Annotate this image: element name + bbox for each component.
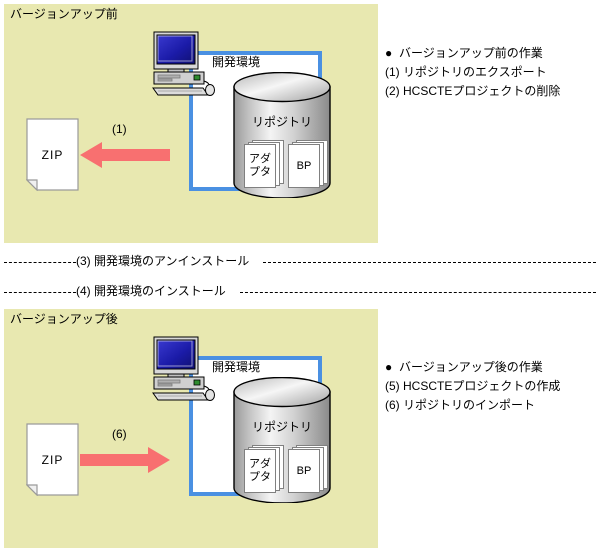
separator-step-4-label: (4) 開発環境のインストール [76,284,240,298]
separator-step-3: (3) 開発環境のアンインストール [4,254,596,270]
bp-doc-label: BP [288,449,320,493]
export-arrow-left [80,140,170,170]
dash-left [4,262,76,263]
import-arrow-right [80,445,170,475]
dash-right [263,262,596,263]
notes-after-heading-row: ●バージョンアップ後の作業 [385,358,560,377]
bp-document-stack: BP [288,140,330,188]
bp-doc-label: BP [288,144,320,188]
computer-icon [152,336,216,402]
panel-after-title: バージョンアップ後 [10,312,118,326]
notes-after-item-1: (5) HCSCTEプロジェクトの作成 [385,377,560,396]
diagram-canvas: バージョンアップ前 開発環境 [0,0,600,556]
adapter-document-stack: アダ プタ [244,445,286,493]
export-arrow-label: (1) [112,122,127,136]
bullet-icon: ● [385,358,399,377]
dash-left [4,292,76,293]
notes-before-heading: バージョンアップ前の作業 [399,46,543,60]
import-arrow-label: (6) [112,427,127,441]
zip-file-label: ZIP [26,423,79,496]
zip-file-after: ZIP [26,423,79,496]
adapter-doc-label: アダ プタ [244,144,276,188]
bullet-icon: ● [385,44,399,63]
separator-step-4: (4) 開発環境のインストール [4,284,596,300]
notes-before-heading-row: ●バージョンアップ前の作業 [385,44,560,63]
panel-before-title: バージョンアップ前 [10,7,118,21]
zip-file-label: ZIP [26,118,79,191]
notes-before-item-1: (1) リポジトリのエクスポート [385,63,560,82]
computer-icon [152,31,216,97]
notes-after-upgrade: ●バージョンアップ後の作業 (5) HCSCTEプロジェクトの作成 (6) リポ… [385,358,560,415]
notes-before-upgrade: ●バージョンアップ前の作業 (1) リポジトリのエクスポート (2) HCSCT… [385,44,560,101]
separator-step-3-label: (3) 開発環境のアンインストール [76,254,263,268]
adapter-doc-label: アダ プタ [244,449,276,493]
dev-environment-label-before: 開発環境 [212,55,260,69]
repository-label-before: リポジトリ [233,115,331,129]
notes-before-item-2: (2) HCSCTEプロジェクトの削除 [385,82,560,101]
zip-file-before: ZIP [26,118,79,191]
notes-after-heading: バージョンアップ後の作業 [399,360,543,374]
dev-environment-label-after: 開発環境 [212,360,260,374]
dash-right [240,292,596,293]
bp-document-stack: BP [288,445,330,493]
repository-label-after: リポジトリ [233,420,331,434]
adapter-document-stack: アダ プタ [244,140,286,188]
notes-after-item-2: (6) リポジトリのインポート [385,396,560,415]
